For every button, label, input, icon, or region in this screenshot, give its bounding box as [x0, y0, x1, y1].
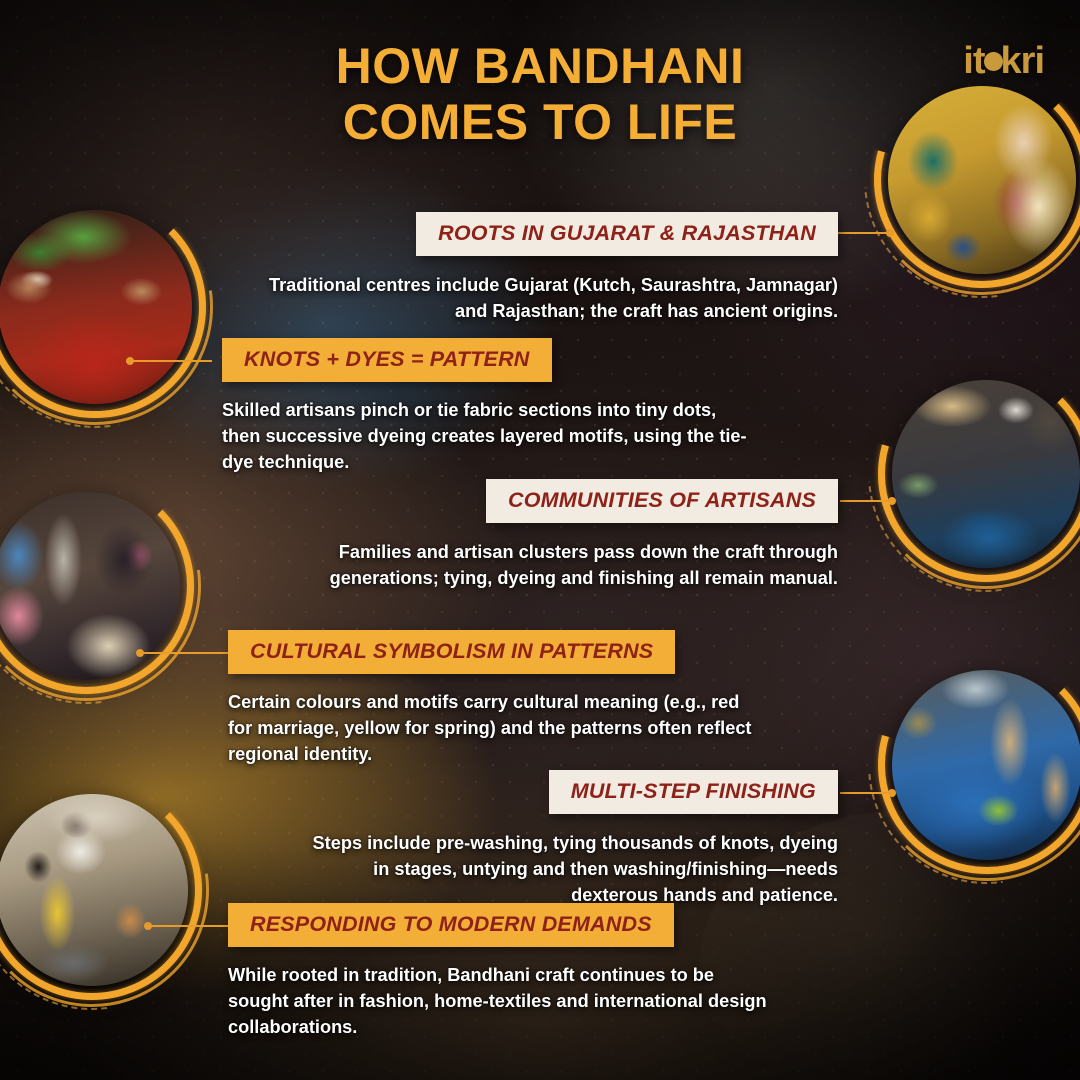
section-body-modern-demands: While rooted in tradition, Bandhani craf… — [228, 962, 776, 1041]
section-badge-finishing[interactable]: MULTI-STEP FINISHING — [549, 770, 838, 814]
photo-indigo-vat — [878, 656, 1080, 874]
section-badge-knots-dyes[interactable]: KNOTS + DYES = PATTERN — [222, 338, 552, 382]
section-badge-modern-demands[interactable]: RESPONDING TO MODERN DEMANDS — [228, 903, 674, 947]
connector-line-knots — [130, 360, 212, 362]
section-body-communities: Families and artisan clusters pass down … — [238, 539, 838, 591]
connector-line-modern — [148, 925, 230, 927]
photo-hands-tying-red — [0, 196, 206, 418]
connector-line-symbolism — [140, 652, 228, 654]
section-communities: COMMUNITIES OF ARTISANS Families and art… — [238, 479, 838, 591]
connector-line-finishing — [840, 792, 892, 794]
brand-logo[interactable]: it kri — [963, 40, 1044, 83]
photo-yellow-dye-lift — [0, 780, 202, 1000]
connector-line-communities — [840, 500, 892, 502]
section-badge-symbolism[interactable]: CULTURAL SYMBOLISM IN PATTERNS — [228, 630, 675, 674]
section-modern-demands: RESPONDING TO MODERN DEMANDS While roote… — [228, 903, 828, 1041]
photo-dyer-blue-tub — [878, 366, 1080, 582]
section-knots-dyes: KNOTS + DYES = PATTERN Skilled artisans … — [222, 338, 822, 476]
section-badge-roots[interactable]: ROOTS IN GUJARAT & RAJASTHAN — [416, 212, 838, 256]
page-title-line-2: COMES TO LIFE — [0, 94, 1080, 150]
section-symbolism: CULTURAL SYMBOLISM IN PATTERNS Certain c… — [228, 630, 828, 768]
section-body-symbolism: Certain colours and motifs carry cultura… — [228, 689, 768, 768]
section-finishing: MULTI-STEP FINISHING Steps include pre-w… — [238, 770, 838, 909]
brand-logo-text-last: kri — [1001, 40, 1044, 83]
connector-line-roots — [838, 232, 890, 234]
circle-dot-icon — [984, 52, 1003, 71]
page-title: HOW BANDHANI COMES TO LIFE — [0, 38, 1080, 150]
brand-logo-text-first: it — [963, 40, 984, 83]
photo-woman-tying-cream — [0, 478, 194, 694]
section-roots: ROOTS IN GUJARAT & RAJASTHAN Traditional… — [238, 212, 838, 324]
section-badge-communities[interactable]: COMMUNITIES OF ARTISANS — [486, 479, 838, 523]
page-title-line-1: HOW BANDHANI — [336, 38, 745, 94]
section-body-roots: Traditional centres include Gujarat (Kut… — [263, 272, 838, 324]
section-body-finishing: Steps include pre-washing, tying thousan… — [310, 830, 838, 909]
section-body-knots-dyes: Skilled artisans pinch or tie fabric sec… — [222, 397, 752, 476]
